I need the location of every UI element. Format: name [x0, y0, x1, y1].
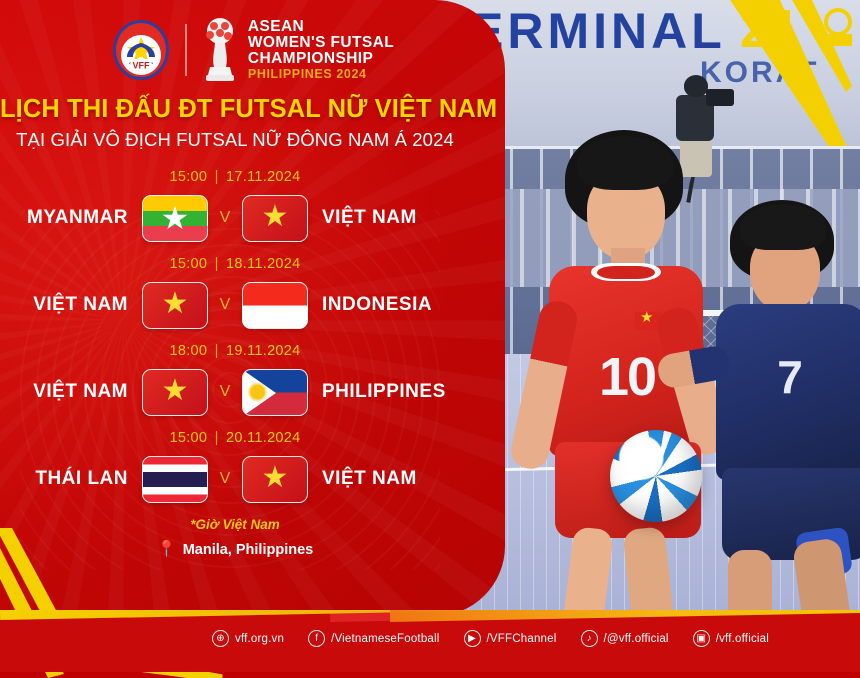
match-datetime: 15:00 | 20.11.2024: [0, 430, 470, 446]
versus-label: V: [208, 296, 242, 314]
match-datetime: 18:00 | 19.11.2024: [0, 343, 470, 359]
vietnam-flag: ★: [142, 369, 208, 416]
match-date: 19.11.2024: [226, 343, 301, 359]
datetime-separator: |: [212, 256, 222, 272]
social-handle: /VietnameseFootball: [331, 633, 439, 645]
indonesia-flag: [242, 282, 308, 329]
champ-line-4: PHILIPPINES 2024: [248, 68, 394, 81]
social-link-youtube[interactable]: ▶ /VFFChannel: [464, 630, 557, 647]
myanmar-flag: ★: [142, 195, 208, 242]
tiktok-icon: ♪: [581, 630, 598, 647]
social-handle: /VFFChannel: [487, 633, 557, 645]
match-list: 15:00 | 17.11.2024 MYANMAR ★ V ★ VIỆT NA…: [0, 169, 470, 508]
svg-text:VFF: VFF: [132, 61, 150, 71]
match-time: 15:00: [169, 256, 207, 272]
versus-label: V: [208, 470, 242, 488]
wall-signage-terminal: ERMINAL: [470, 2, 726, 60]
match-row: 15:00 | 17.11.2024 MYANMAR ★ V ★ VIỆT NA…: [0, 169, 470, 247]
away-team-name: PHILIPPINES: [308, 381, 468, 403]
datetime-separator: |: [212, 430, 222, 446]
champ-line-2: WOMEN'S FUTSAL: [248, 35, 394, 51]
footer-bar: ⊕ vff.org.vn f /VietnameseFootball ▶ /VF…: [0, 610, 860, 672]
logo-divider: [185, 24, 187, 76]
footer-gold-stripe-right: [390, 610, 860, 622]
social-link-instagram[interactable]: ▣ /vff.official: [693, 630, 769, 647]
versus-label: V: [208, 209, 242, 227]
player-blue-number: 7: [740, 350, 840, 404]
match-date: 18.11.2024: [226, 256, 301, 272]
datetime-separator: |: [212, 343, 222, 359]
player-thailand: 7: [700, 200, 860, 610]
vietnam-flag: ★: [242, 195, 308, 242]
philippines-flag: [242, 369, 308, 416]
youtube-icon: ▶: [464, 630, 481, 647]
away-team-name: INDONESIA: [308, 294, 468, 316]
vff-logo-icon: VFF: [111, 19, 171, 81]
home-team-name: MYANMAR: [2, 207, 142, 229]
championship-logo-block: ASEAN WOMEN'S FUTSAL CHAMPIONSHIP PHILIP…: [201, 17, 394, 83]
match-datetime: 15:00 | 18.11.2024: [0, 256, 470, 272]
thailand-flag: [142, 456, 208, 503]
globe-icon: ⊕: [212, 630, 229, 647]
match-row: 15:00 | 20.11.2024 THÁI LAN V ★ VIỆT NAM: [0, 430, 470, 508]
schedule-panel: VFF ASEAN WOMEN'S FUTS: [0, 0, 505, 616]
page-subtitle: TẠI GIẢI VÔ ĐỊCH FUTSAL NỮ ĐÔNG NAM Á 20…: [0, 129, 470, 151]
match-date: 17.11.2024: [226, 169, 301, 185]
logo-row: VFF ASEAN WOMEN'S FUTS: [0, 0, 505, 86]
social-links: ⊕ vff.org.vn f /VietnameseFootball ▶ /VF…: [212, 630, 769, 647]
champ-line-1: ASEAN: [248, 19, 394, 35]
match-time: 18:00: [169, 343, 207, 359]
away-team-name: VIỆT NAM: [308, 468, 468, 490]
wall-signage-number: 21: [740, 0, 800, 60]
social-link-tiktok[interactable]: ♪ /@vff.official: [581, 630, 669, 647]
home-team-name: VIỆT NAM: [2, 294, 142, 316]
match-datetime: 15:00 | 17.11.2024: [0, 169, 470, 185]
datetime-separator: |: [212, 169, 222, 185]
social-handle: vff.org.vn: [235, 633, 284, 645]
match-date: 20.11.2024: [226, 430, 301, 446]
match-time: 15:00: [169, 169, 207, 185]
match-time: 15:00: [169, 430, 207, 446]
social-link-facebook[interactable]: f /VietnameseFootball: [308, 630, 439, 647]
champ-line-3: CHAMPIONSHIP: [248, 51, 394, 67]
social-link-website[interactable]: ⊕ vff.org.vn: [212, 630, 284, 647]
home-team-name: VIỆT NAM: [2, 381, 142, 403]
social-handle: /vff.official: [716, 633, 769, 645]
vietnam-flag: ★: [142, 282, 208, 329]
page-title: LỊCH THI ĐẤU ĐT FUTSAL NỮ VIỆT NAM: [0, 95, 470, 124]
home-team-name: THÁI LAN: [2, 468, 142, 490]
versus-label: V: [208, 383, 242, 401]
match-row: 18:00 | 19.11.2024 VIỆT NAM ★ V PHILIPPI…: [0, 343, 470, 421]
match-row: 15:00 | 18.11.2024 VIỆT NAM ★ V INDONESI…: [0, 256, 470, 334]
social-handle: /@vff.official: [604, 633, 669, 645]
vietnam-flag: ★: [242, 456, 308, 503]
trophy-icon: [201, 17, 239, 83]
away-team-name: VIỆT NAM: [308, 207, 468, 229]
futsal-ball: [610, 430, 702, 522]
facebook-icon: f: [308, 630, 325, 647]
instagram-icon: ▣: [693, 630, 710, 647]
